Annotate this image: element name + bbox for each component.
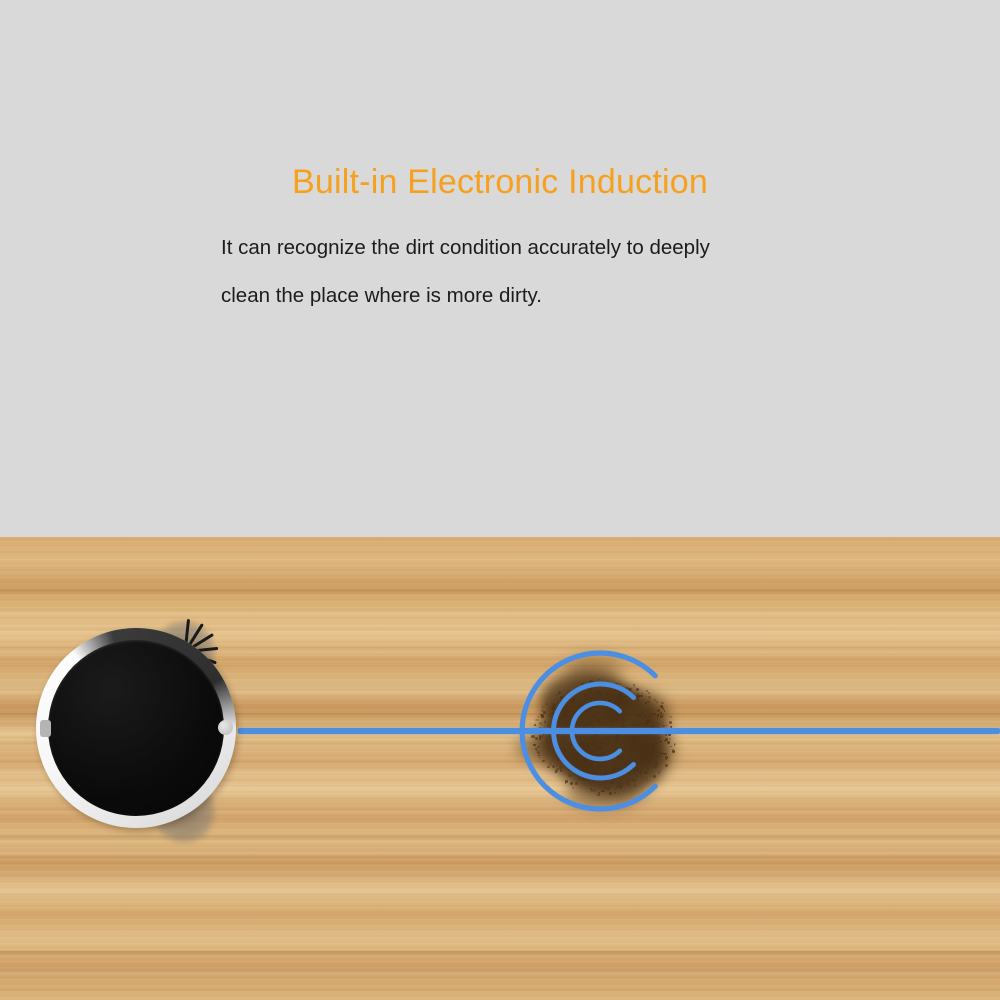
product-feature-slide: Built-in Electronic Induction It can rec… [0, 0, 1000, 1000]
robot-top-cover [48, 640, 224, 816]
page-title: Built-in Electronic Induction [0, 163, 1000, 202]
plank-seam [0, 951, 1000, 956]
description-line-1: It can recognize the dirt condition accu… [221, 224, 841, 272]
info-panel: Built-in Electronic Induction It can rec… [0, 0, 1000, 537]
side-sensor-tab [40, 720, 51, 737]
description-line-2: clean the place where is more dirty. [221, 272, 841, 320]
plank-seam [0, 589, 1000, 594]
induction-sensor-icon [218, 720, 233, 735]
electronic-induction-beam [238, 728, 1000, 734]
description-text: It can recognize the dirt condition accu… [221, 224, 841, 320]
robot-vacuum[interactable] [36, 628, 244, 836]
robot-body-shell [36, 628, 236, 828]
